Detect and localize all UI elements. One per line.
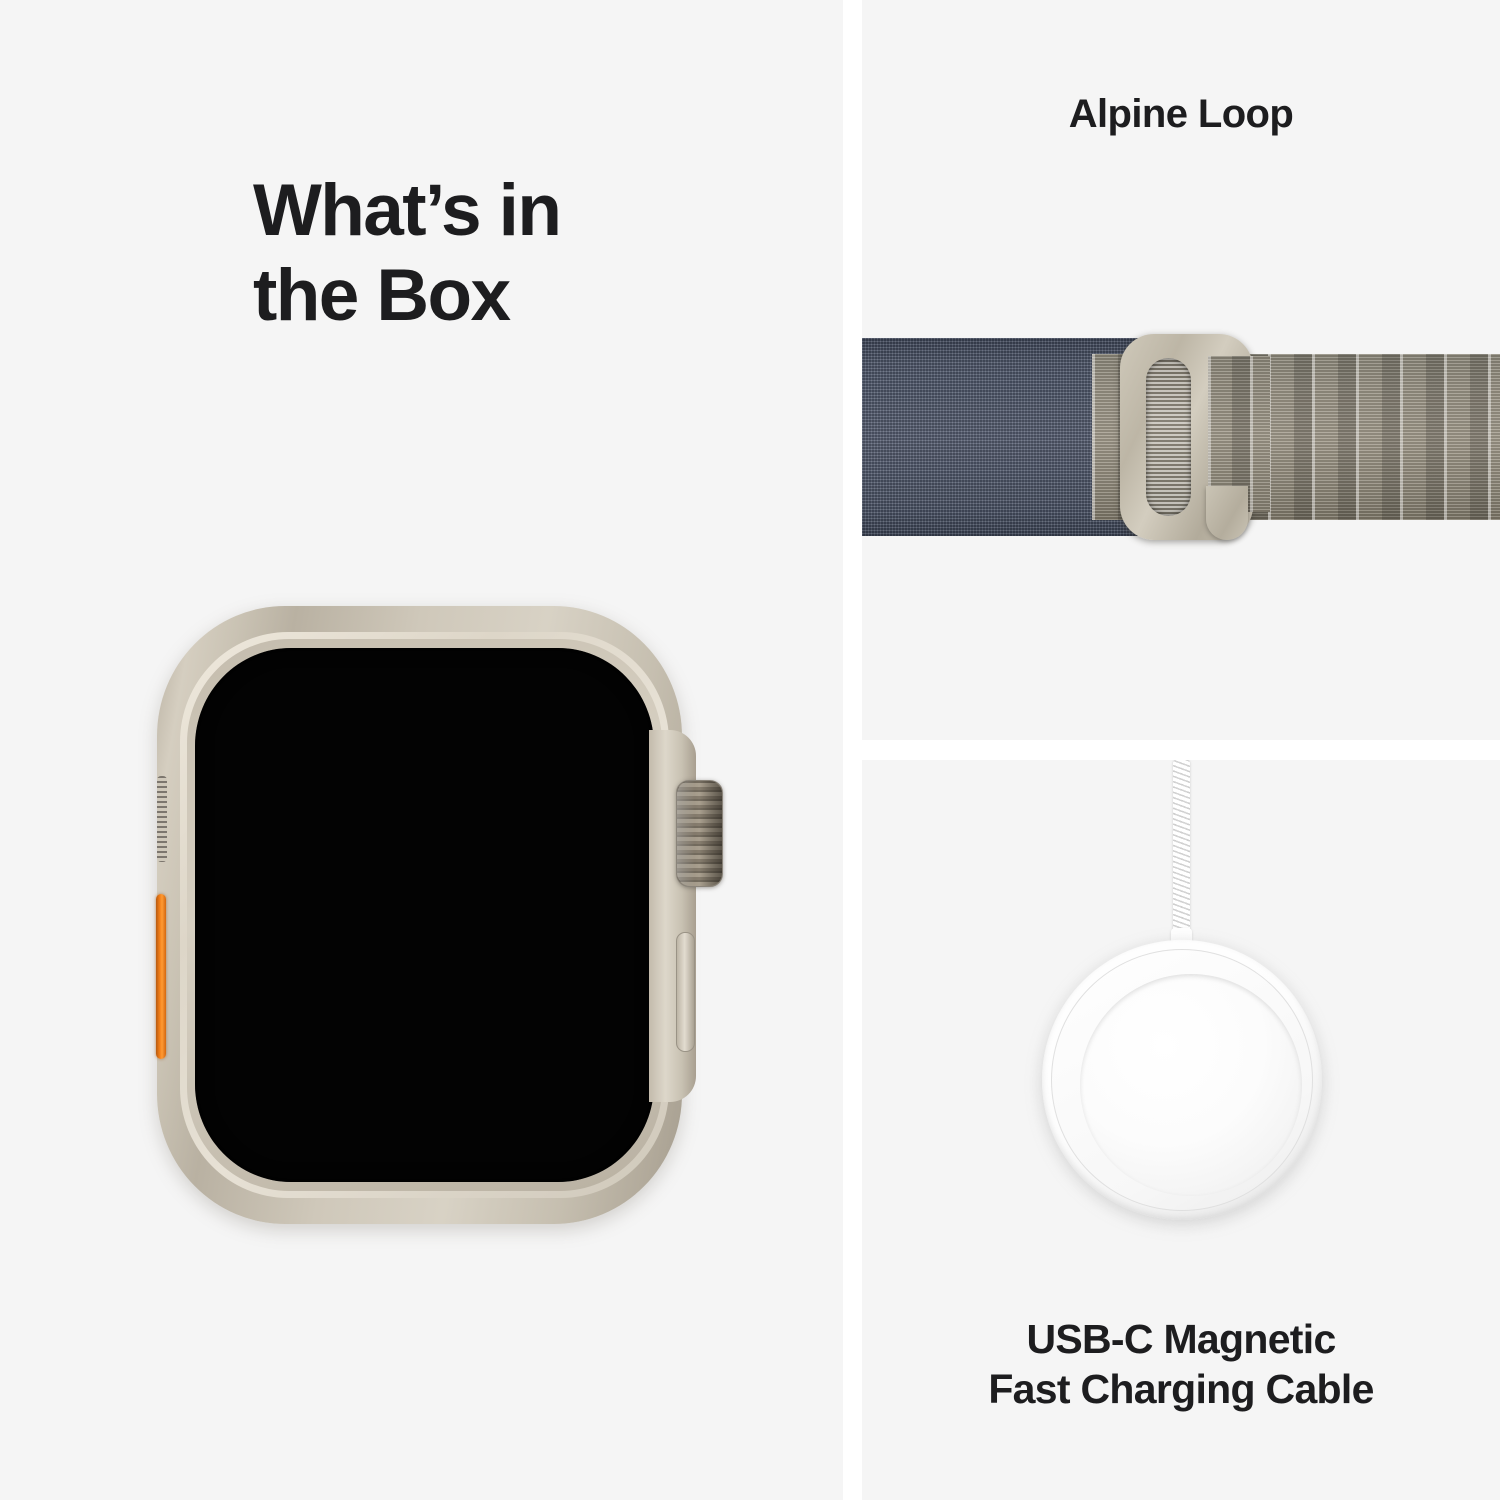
apple-watch-ultra-image[interactable]	[152, 606, 727, 1224]
watch-display	[195, 648, 654, 1182]
page-title: What’s in the Box	[253, 168, 723, 339]
buckle-slot	[1146, 358, 1191, 516]
alpine-loop-label: Alpine Loop	[862, 92, 1500, 137]
buckle-hook-arm	[1206, 486, 1248, 540]
g-hook-buckle-icon	[1120, 334, 1253, 540]
action-button-icon[interactable]	[156, 894, 166, 1059]
digital-crown-icon[interactable]	[676, 780, 723, 887]
panel-alpine-loop[interactable]: Alpine Loop	[862, 0, 1500, 740]
charging-cable-image[interactable]	[862, 760, 1500, 1320]
charging-puck-surface	[1080, 974, 1302, 1196]
braided-cable-icon	[1173, 760, 1190, 942]
speaker-grille-icon	[157, 776, 167, 862]
watch-case	[157, 606, 682, 1224]
charging-puck-icon	[1042, 940, 1322, 1220]
digital-crown-highlight	[677, 781, 722, 886]
charging-cable-label: USB-C Magnetic Fast Charging Cable	[862, 1314, 1500, 1414]
side-button-icon[interactable]	[676, 932, 695, 1052]
panel-watch[interactable]: What’s in the Box	[0, 0, 843, 1500]
charging-puck-ring	[1051, 949, 1313, 1211]
product-gallery: What’s in the Box Alpine Loop	[0, 0, 1500, 1500]
alpine-loop-band-image[interactable]	[862, 338, 1500, 536]
panel-charging-cable[interactable]: USB-C Magnetic Fast Charging Cable	[862, 760, 1500, 1500]
